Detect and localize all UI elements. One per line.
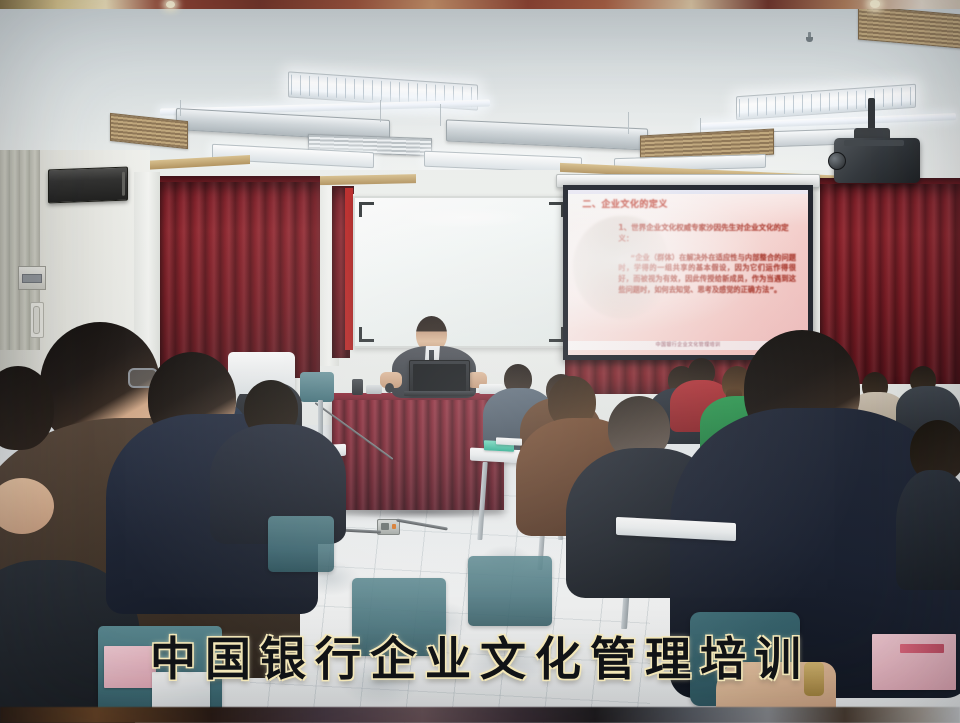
sprinkler-head-icon	[806, 32, 813, 42]
slide-heading: 1、世界企业文化权威专家沙因先生对企业文化的定义：	[618, 223, 796, 244]
projection-screen-surface: 二、企业文化的定义 1、世界企业文化权威专家沙因先生对企业文化的定义： “企业（…	[568, 190, 808, 355]
projector-vent-fins	[844, 140, 904, 146]
projector-body	[834, 138, 920, 183]
ceiling-lamp-glow-b	[870, 0, 880, 8]
outlet-socket-icon	[381, 523, 389, 530]
panel-breaker-slot	[22, 274, 42, 283]
slide-body-text: “企业（群体）在解决外在适应性与内部整合的问题时，学得的一组共享的基本假设，因为…	[618, 253, 796, 296]
wall-phone[interactable]	[30, 302, 44, 338]
attendee-right-edge-body	[896, 470, 960, 590]
wall-speaker	[48, 167, 128, 204]
whiteboard-corner-bl	[359, 327, 374, 342]
desk-papers	[366, 385, 382, 394]
presenter-laptop[interactable]	[409, 360, 470, 395]
electrical-panel[interactable]	[18, 266, 46, 290]
photo-caption: 中国银行企业文化管理培训	[0, 623, 960, 689]
lower-edge-band	[0, 707, 960, 723]
curtain-left	[160, 182, 320, 378]
ceiling-lamp-glow-a	[166, 1, 175, 8]
projector-pole	[868, 98, 875, 132]
whiteboard-corner-tr	[549, 202, 564, 217]
training-photo: 二、企业文化的定义 1、世界企业文化权威专家沙因先生对企业文化的定义： “企业（…	[0, 0, 960, 723]
laptop-base	[404, 391, 474, 396]
slide-title: 二、企业文化的定义	[582, 197, 726, 210]
projection-screen[interactable]: 二、企业文化的定义 1、世界企业文化权威专家沙因先生对企业文化的定义： “企业（…	[563, 185, 813, 360]
light-hanger-c	[440, 104, 441, 126]
chair-back-mid2[interactable]	[468, 556, 552, 626]
outlet-indicator-icon	[392, 524, 396, 529]
desk-device-a	[352, 379, 363, 395]
whiteboard-glare	[398, 207, 530, 228]
light-hanger-b	[380, 100, 381, 122]
laptop-screen	[413, 364, 466, 391]
projector-lens-icon	[828, 152, 846, 170]
notebook-white[interactable]	[496, 437, 522, 445]
phone-handset-icon	[33, 306, 40, 334]
light-hanger-a	[180, 100, 181, 116]
whiteboard-corner-br	[549, 327, 564, 342]
whiteboard-corner-tl	[359, 202, 374, 217]
speaker-edge	[122, 172, 125, 196]
desk-mic-base	[385, 383, 394, 393]
side-chair-back	[300, 372, 334, 402]
chair-back-mid3[interactable]	[268, 516, 334, 572]
whiteboard[interactable]	[353, 196, 570, 348]
light-hanger-d	[628, 112, 629, 134]
upper-ceiling-band	[0, 0, 960, 9]
whiteboard-left-frame	[345, 188, 353, 350]
